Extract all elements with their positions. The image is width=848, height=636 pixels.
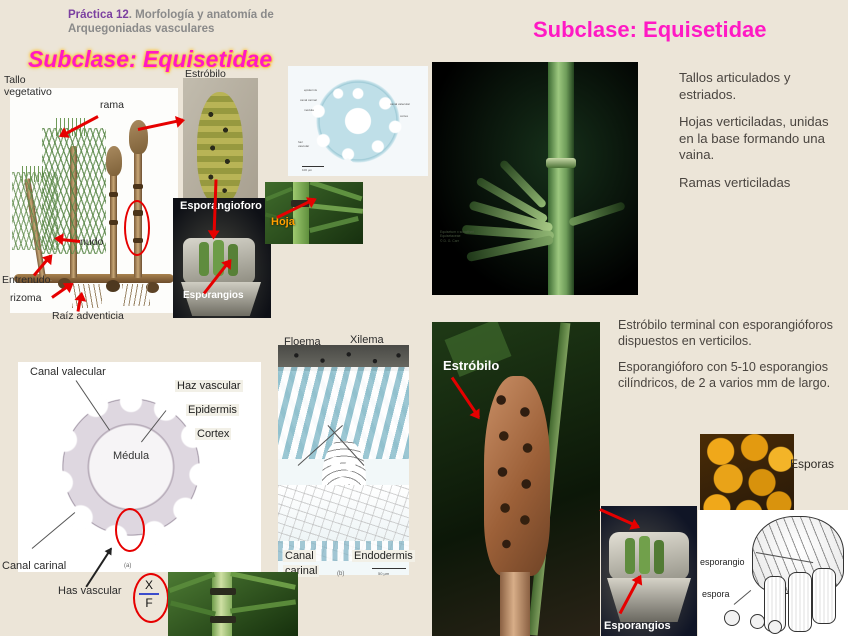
xf-denominator: F bbox=[139, 596, 159, 610]
photo-credit: Equisetum x schaffneri Equisetaceae © D.… bbox=[440, 230, 474, 243]
image-sporangiophore-line-drawing bbox=[698, 510, 848, 636]
practica-header: Práctica 12. Morfología y anatomía de Ar… bbox=[68, 8, 358, 36]
title-subclase-left: Subclase: Equisetidae bbox=[28, 46, 272, 73]
label-entrenudo: Entrenudo bbox=[2, 274, 50, 286]
scale-bar-label: 50 µm bbox=[378, 568, 389, 580]
label-canal-carinal-micro-line1: Canal bbox=[283, 550, 316, 562]
text-line-1: Tallos articulados y estriados. bbox=[679, 70, 844, 103]
slide-canvas: Práctica 12. Morfología y anatomía de Ar… bbox=[0, 0, 848, 636]
label-rama: rama bbox=[100, 99, 124, 111]
label-floema: Floema bbox=[284, 336, 321, 348]
image-stem-node-photo bbox=[168, 572, 298, 636]
label-esporangioforo: Esporangioforo bbox=[180, 200, 262, 212]
label-estrobilo-top: Estróbilo bbox=[185, 68, 226, 80]
label-esporangios-top: Esporangios bbox=[183, 290, 244, 301]
label-esporangios-bottom: Esporangios bbox=[604, 620, 671, 632]
label-haz-vascular: Haz vascular bbox=[175, 380, 243, 392]
label-rizoma: rizoma bbox=[10, 292, 42, 304]
label-tallo-vegetativo-line1: Tallo bbox=[4, 74, 26, 86]
label-estrobilo-big: Estróbilo bbox=[443, 358, 499, 373]
practica-number: Práctica 12 bbox=[68, 9, 129, 21]
label-canal-carinal-left: Canal carinal bbox=[2, 560, 66, 572]
image-stem-cross-section-blue: epidermis canal carinal médula canal val… bbox=[288, 66, 428, 176]
title-subclase-right: Subclase: Equisetidae bbox=[533, 17, 767, 43]
label-epidermis: Epidermis bbox=[186, 404, 239, 416]
figure-label-b: (b) bbox=[337, 568, 344, 580]
image-leaf-sheath bbox=[265, 182, 363, 244]
xf-fraction: X F bbox=[139, 578, 159, 610]
xf-divider bbox=[139, 593, 159, 595]
image-stem-anatomy-diagram: Médula (a) bbox=[18, 362, 261, 572]
image-equisetum-stem-whorl: Equisetum x schaffneri Equisetaceae © D.… bbox=[432, 62, 638, 295]
label-xilema: Xilema bbox=[350, 334, 384, 346]
label-medula: Médula bbox=[113, 450, 149, 462]
text-line-3: Ramas verticiladas bbox=[679, 175, 844, 192]
node-highlight-ellipse bbox=[124, 200, 150, 256]
label-espora-drawing: espora bbox=[702, 588, 730, 600]
label-tallo-vegetativo-line2: vegetativo bbox=[4, 86, 52, 98]
text-line-2: Hojas verticiladas, unidas en la base fo… bbox=[679, 114, 844, 164]
label-esporangio-drawing: esporangio bbox=[700, 556, 745, 568]
image-vascular-bundle-micrograph bbox=[278, 345, 409, 575]
text-block-top-right: Tallos articulados y estriados. Hojas ve… bbox=[679, 70, 844, 202]
label-cortex: Cortex bbox=[195, 428, 231, 440]
xf-numerator: X bbox=[139, 578, 159, 592]
label-endodermis: Endodermis bbox=[352, 550, 415, 562]
label-raiz-adventicia: Raíz adventicia bbox=[52, 310, 124, 322]
haz-vascular-highlight-ellipse bbox=[115, 508, 145, 552]
label-has-vascular: Has vascular bbox=[58, 585, 122, 597]
text-line-5: Esporangióforo con 5-10 esporangios cilí… bbox=[618, 360, 846, 391]
text-line-4: Estróbilo terminal con esporangióforos d… bbox=[618, 318, 846, 349]
text-block-bottom-right: Estróbilo terminal con esporangióforos d… bbox=[618, 318, 846, 402]
label-hoja: Hoja bbox=[271, 216, 295, 228]
image-sporangia-closeup bbox=[601, 506, 697, 636]
label-canal-valecular: Canal valecular bbox=[30, 366, 106, 378]
label-nudo: nudo bbox=[80, 236, 103, 248]
figure-label-a: (a) bbox=[124, 560, 131, 572]
label-esporas: Esporas bbox=[790, 458, 834, 470]
